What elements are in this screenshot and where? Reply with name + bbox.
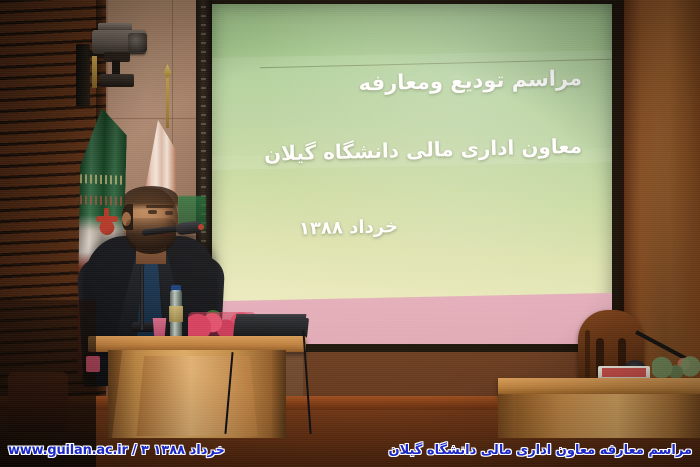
podium-edge-right — [272, 350, 286, 438]
speaker-eyebrow — [146, 205, 174, 208]
podium-front-panel — [134, 356, 260, 436]
caption-website-date: www.guilan.ac.ir / ۳ خرداد ۱۳۸۸ — [8, 443, 225, 458]
foreground-pink-object — [86, 356, 100, 372]
tissue-box-pattern — [602, 368, 646, 377]
camera-lens — [128, 33, 147, 52]
camera-gold-fitting — [92, 56, 97, 88]
microphone-stem — [140, 266, 144, 330]
caption-event-title: مراسم معارفه معاون اداری مالی دانشگاه گی… — [389, 443, 692, 458]
bottle-label — [169, 306, 183, 322]
table-body — [516, 394, 700, 438]
chair-slot — [585, 330, 590, 378]
foreground-chair — [8, 372, 68, 432]
iran-flag-emblem-icon — [96, 212, 118, 238]
flag-kufic-border-top — [80, 174, 124, 185]
laptop — [233, 318, 309, 338]
speaker-eye-right — [165, 211, 173, 215]
speaker-beard — [126, 218, 176, 254]
flag-pole — [166, 74, 169, 128]
speaker-eye-left — [148, 210, 157, 214]
projection-screen: مراسم تودیع ومعارفه معاون اداری مالی دان… — [212, 4, 612, 344]
slide-date-line: خرداد ۱۳۸۸ — [238, 216, 398, 241]
camera-lower-head — [100, 74, 134, 87]
flag-kufic-border-bottom — [80, 195, 124, 206]
conference-photo: مراسم تودیع ومعارفه معاون اداری مالی دان… — [0, 0, 700, 467]
